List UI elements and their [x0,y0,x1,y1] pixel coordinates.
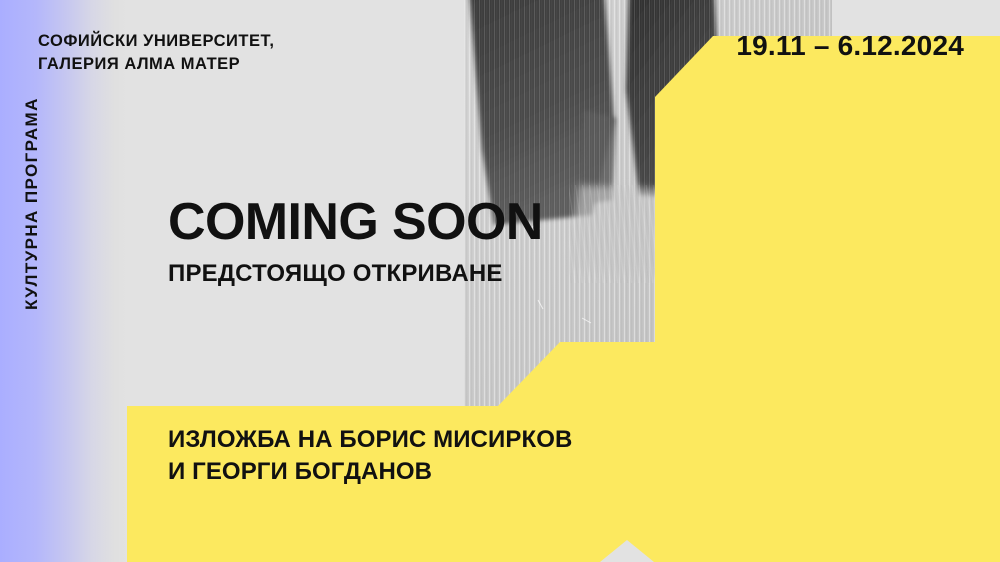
headline-bulgarian: ПРЕДСТОЯЩО ОТКРИВАНЕ [168,261,543,286]
cultural-program-label: КУЛТУРНА ПРОГРАМА [22,80,42,310]
poster-canvas: КУЛТУРНА ПРОГРАМА СОФИЙСКИ УНИВЕРСИТЕТ, … [0,0,1000,562]
headline-block: COMING SOON ПРЕДСТОЯЩО ОТКРИВАНЕ [168,196,543,286]
exhibition-title: ИЗЛОЖБА НА БОРИС МИСИРКОВ И ГЕОРГИ БОГДА… [168,424,572,487]
headline-english: COMING SOON [168,196,543,249]
venue-text: СОФИЙСКИ УНИВЕРСИТЕТ, ГАЛЕРИЯ АЛМА МАТЕР [38,30,275,76]
logo-column: ФЕСТИВАЛ ЗА ЕВРОПЕЙСКА СОЛИДАРНОСТ СТЕНИ… [900,0,1000,562]
left-gradient-strip [0,0,128,562]
